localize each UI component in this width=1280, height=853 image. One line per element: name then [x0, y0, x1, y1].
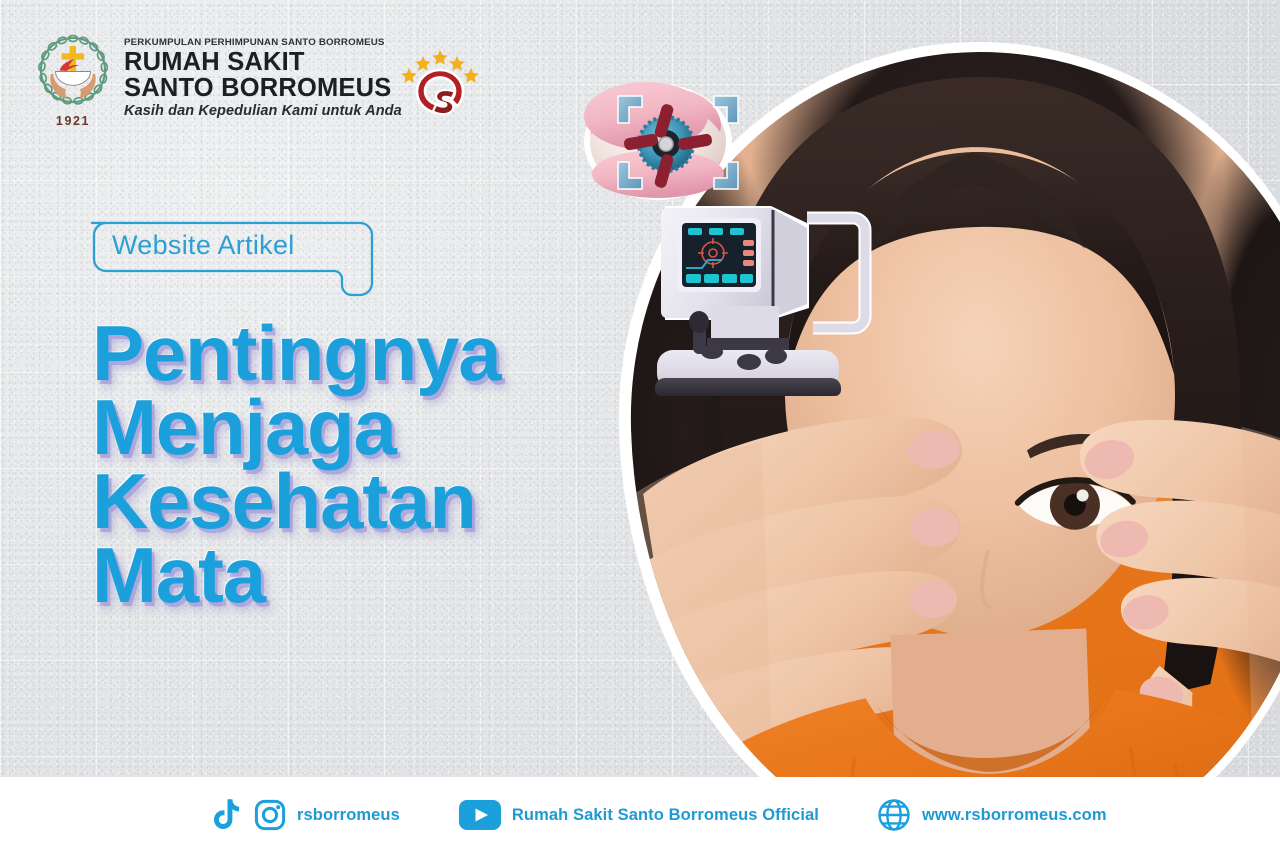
youtube-group: Rumah Sakit Santo Borromeus Official [459, 800, 819, 830]
website-group: www.rsborromeus.com [877, 798, 1107, 832]
logo-line-1: RUMAH SAKIT [124, 49, 402, 75]
visible-eye [1017, 478, 1134, 532]
badge-label: Website Artikel [112, 230, 295, 261]
tiktok-icon[interactable] [213, 798, 243, 832]
headline-line-3: Kesehatan [92, 464, 612, 538]
logo-line-2: SANTO BORROMEUS [124, 75, 402, 101]
right-hand [1078, 414, 1280, 784]
headline-line-2: Menjaga [92, 390, 612, 464]
hospital-logo: 1921 PERKUMPULAN PERHIMPUNAN SANTO BORRO… [36, 30, 402, 130]
footer-bar: rsborromeus Rumah Sakit Santo Borromeus … [0, 777, 1280, 853]
youtube-icon[interactable] [459, 800, 501, 830]
3d-autorefractor-device-illustration [655, 186, 895, 398]
social-group: rsborromeus [213, 798, 400, 832]
youtube-channel: Rumah Sakit Santo Borromeus Official [512, 806, 819, 825]
santo-borromeus-emblem-icon: 1921 [36, 30, 110, 130]
logo-kicker: PERKUMPULAN PERHIMPUNAN SANTO BORROMEUS [124, 37, 407, 48]
left-hand [631, 414, 973, 784]
emblem-year: 1921 [56, 114, 90, 128]
social-handle: rsborromeus [297, 806, 400, 825]
logo-tagline: Kasih dan Kepedulian Kami untuk Anda [124, 103, 402, 119]
headline-line-1: Pentingnya [92, 316, 612, 390]
website-artikel-badge[interactable]: Website Artikel [78, 211, 376, 279]
website-url: www.rsborromeus.com [922, 806, 1107, 825]
kars-q-mark [417, 70, 463, 114]
logo-text-block: PERKUMPULAN PERHIMPUNAN SANTO BORROMEUS … [124, 30, 402, 119]
page-title: Pentingnya Menjaga Kesehatan Mata [92, 316, 612, 612]
article-banner: 1921 PERKUMPULAN PERHIMPUNAN SANTO BORRO… [0, 0, 1280, 853]
kars-quality-q-icon [392, 32, 488, 128]
globe-icon[interactable] [877, 798, 911, 832]
instagram-icon[interactable] [254, 799, 286, 831]
headline-line-4: Mata [92, 538, 612, 612]
